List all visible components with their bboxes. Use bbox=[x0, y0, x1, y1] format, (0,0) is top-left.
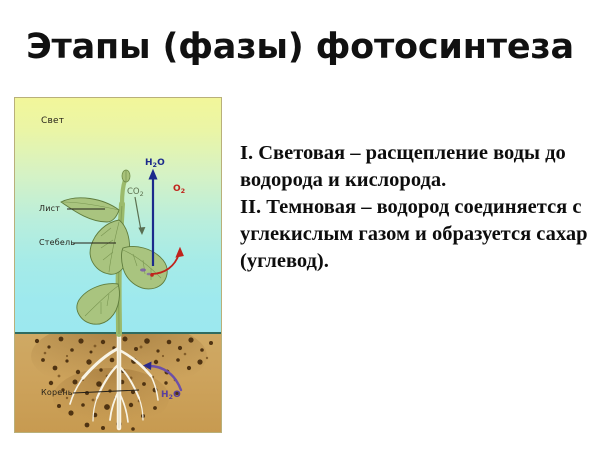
diagram-label-root: Корень bbox=[41, 388, 73, 397]
plant-leaves bbox=[61, 198, 167, 324]
phase-two-paragraph: II. Темновая – водород соединяется с угл… bbox=[240, 194, 592, 275]
formula-water-absorbed: H2O bbox=[161, 390, 181, 400]
page-title: Этапы (фазы) фотосинтеза bbox=[0, 26, 600, 68]
diagram-label-light: Свет bbox=[41, 116, 64, 126]
soil-texture bbox=[31, 320, 213, 431]
diagram-label-leaf: Лист bbox=[39, 204, 60, 213]
explanation-text: I. Световая – расщепление воды до водоро… bbox=[240, 140, 592, 275]
plant-illustration bbox=[15, 98, 222, 433]
carbon-dioxide-arrow bbox=[135, 197, 145, 235]
formula-carbon-dioxide: CO2 bbox=[127, 187, 144, 197]
formula-water-released: H2O bbox=[145, 158, 165, 168]
phase-one-paragraph: I. Световая – расщепление воды до водоро… bbox=[240, 140, 592, 194]
formula-oxygen: O2 bbox=[173, 184, 185, 194]
photosynthesis-diagram: Свет Лист Стебель Корень H2O CO2 O2 H2O bbox=[14, 97, 222, 433]
diagram-label-stem: Стебель bbox=[39, 238, 75, 247]
